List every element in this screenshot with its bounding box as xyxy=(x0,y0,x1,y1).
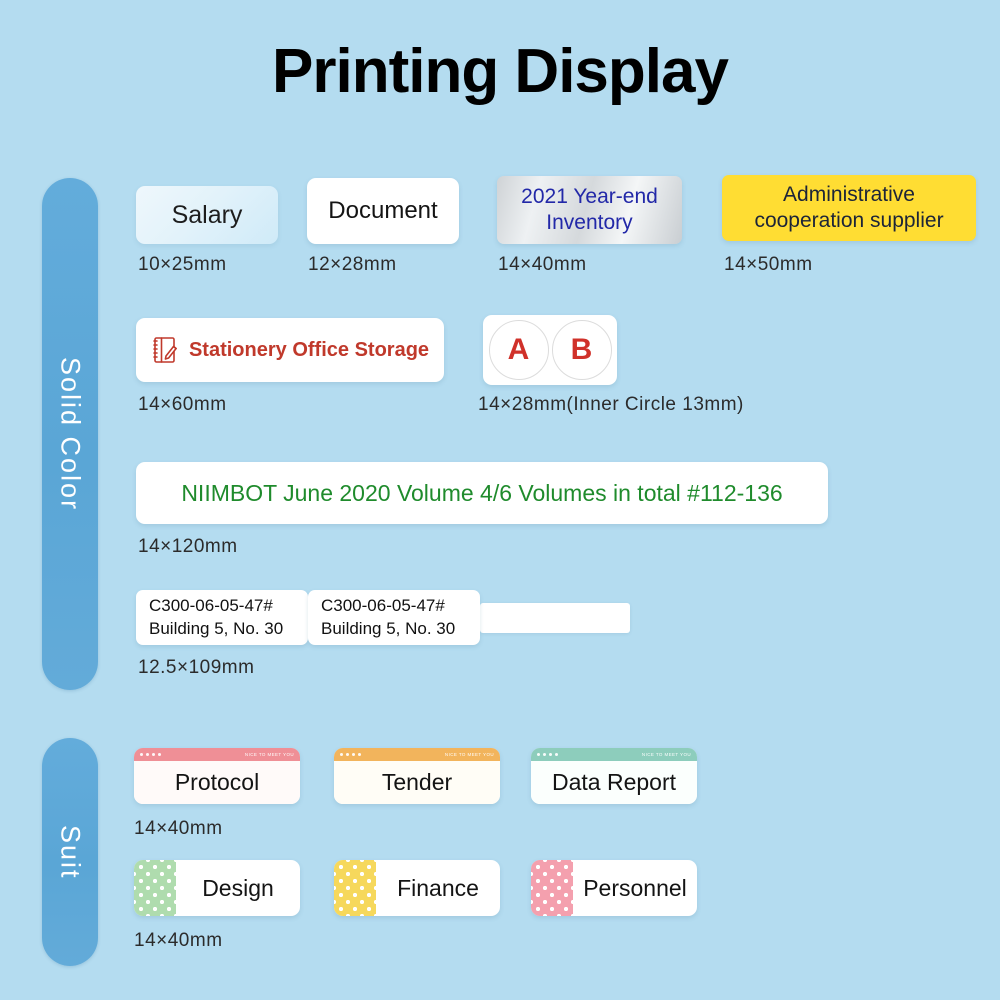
section-tab-label: Suit xyxy=(55,825,86,880)
label-text: Finance xyxy=(397,875,479,902)
label-text: Design xyxy=(202,875,274,902)
header-slogan: NICE TO MEET YOU xyxy=(445,752,494,757)
label-dimension: 14×40mm xyxy=(134,930,223,952)
page-title: Printing Display xyxy=(0,36,1000,107)
label-text-line1: C300-06-05-47# xyxy=(149,595,308,618)
suit-label-body: Data Report xyxy=(531,761,697,804)
cable-flag-label[interactable]: C300-06-05-47# Building 5, No. 30 xyxy=(308,590,480,645)
header-slogan: NICE TO MEET YOU xyxy=(642,752,691,757)
label-text: NIIMBOT June 2020 Volume 4/6 Volumes in … xyxy=(181,480,782,507)
label-text: Document xyxy=(328,197,437,225)
label-text-line1: Administrative xyxy=(783,183,915,206)
label-dimension: 14×40mm xyxy=(498,254,587,276)
suit-label-personnel[interactable]: Personnel xyxy=(531,860,697,916)
label-text-line2: Building 5, No. 30 xyxy=(321,618,480,641)
suit-label-body: Protocol xyxy=(134,761,300,804)
cable-flag-tail xyxy=(480,603,630,633)
label-text-line2: cooperation supplier xyxy=(754,209,943,232)
section-tab-label: Solid Color xyxy=(55,357,86,511)
label-dimension: 14×60mm xyxy=(138,394,227,416)
cable-flag-label-group[interactable]: C300-06-05-47# Building 5, No. 30 C300-0… xyxy=(136,590,480,645)
label-card-niimbot-volume[interactable]: NIIMBOT June 2020 Volume 4/6 Volumes in … xyxy=(136,462,828,524)
suit-label-body: Design xyxy=(176,860,300,916)
label-text-line2: Building 5, No. 30 xyxy=(149,618,308,641)
cable-flag-head: C300-06-05-47# Building 5, No. 30 xyxy=(136,590,308,645)
suit-label-body: Personnel xyxy=(573,860,697,916)
label-dimension: 10×25mm xyxy=(138,254,227,276)
label-dimension: 14×28mm(Inner Circle 13mm) xyxy=(478,394,744,416)
label-dimension: 12.5×109mm xyxy=(138,657,254,679)
label-card-salary[interactable]: Salary xyxy=(136,186,278,244)
cable-flag-label[interactable]: C300-06-05-47# Building 5, No. 30 xyxy=(136,590,308,645)
suit-label-finance[interactable]: Finance xyxy=(334,860,500,916)
section-tab-suit[interactable]: Suit xyxy=(42,738,98,966)
header-dots-icon xyxy=(537,753,558,756)
circle-label-b: B xyxy=(552,320,612,380)
suit-label-protocol[interactable]: NICE TO MEET YOU Protocol xyxy=(134,748,300,804)
circle-label-a: A xyxy=(489,320,549,380)
header-dots-icon xyxy=(340,753,361,756)
label-text: Stationery Office Storage xyxy=(189,339,429,362)
label-card-year-end-inventory[interactable]: 2021 Year-end Inventory xyxy=(497,176,682,244)
header-dots-icon xyxy=(140,753,161,756)
label-dimension: 14×40mm xyxy=(134,818,223,840)
polka-dot-patch xyxy=(134,860,176,916)
label-card-administrative-supplier[interactable]: Administrative cooperation supplier xyxy=(722,175,976,241)
label-card-stationery[interactable]: Stationery Office Storage xyxy=(136,318,444,382)
label-text: Personnel xyxy=(583,875,687,902)
suit-label-header-bar: NICE TO MEET YOU xyxy=(134,748,300,761)
label-text: Salary xyxy=(172,201,243,230)
label-dimension: 12×28mm xyxy=(308,254,397,276)
suit-label-header-bar: NICE TO MEET YOU xyxy=(531,748,697,761)
label-text-line2: Inventory xyxy=(546,211,632,234)
section-tab-solid-color[interactable]: Solid Color xyxy=(42,178,98,690)
suit-label-header-bar: NICE TO MEET YOU xyxy=(334,748,500,761)
label-text: Data Report xyxy=(552,769,676,796)
label-card-document[interactable]: Document xyxy=(307,178,459,244)
notebook-pencil-icon xyxy=(151,335,179,365)
suit-label-body: Tender xyxy=(334,761,500,804)
label-text: Protocol xyxy=(175,769,259,796)
polka-dot-patch xyxy=(334,860,376,916)
label-text-line1: 2021 Year-end xyxy=(521,185,658,208)
label-text: Administrative cooperation supplier xyxy=(754,182,943,235)
label-dimension: 14×120mm xyxy=(138,536,238,558)
cable-flag-head: C300-06-05-47# Building 5, No. 30 xyxy=(308,590,480,645)
header-slogan: NICE TO MEET YOU xyxy=(245,752,294,757)
polka-dot-patch xyxy=(531,860,573,916)
label-text: 2021 Year-end Inventory xyxy=(521,184,658,235)
label-dimension: 14×50mm xyxy=(724,254,813,276)
suit-label-body: Finance xyxy=(376,860,500,916)
suit-label-data-report[interactable]: NICE TO MEET YOU Data Report xyxy=(531,748,697,804)
label-card-circle-ab[interactable]: A B xyxy=(483,315,617,385)
label-text: Tender xyxy=(382,769,452,796)
label-text-line1: C300-06-05-47# xyxy=(321,595,480,618)
suit-label-design[interactable]: Design xyxy=(134,860,300,916)
suit-label-tender[interactable]: NICE TO MEET YOU Tender xyxy=(334,748,500,804)
